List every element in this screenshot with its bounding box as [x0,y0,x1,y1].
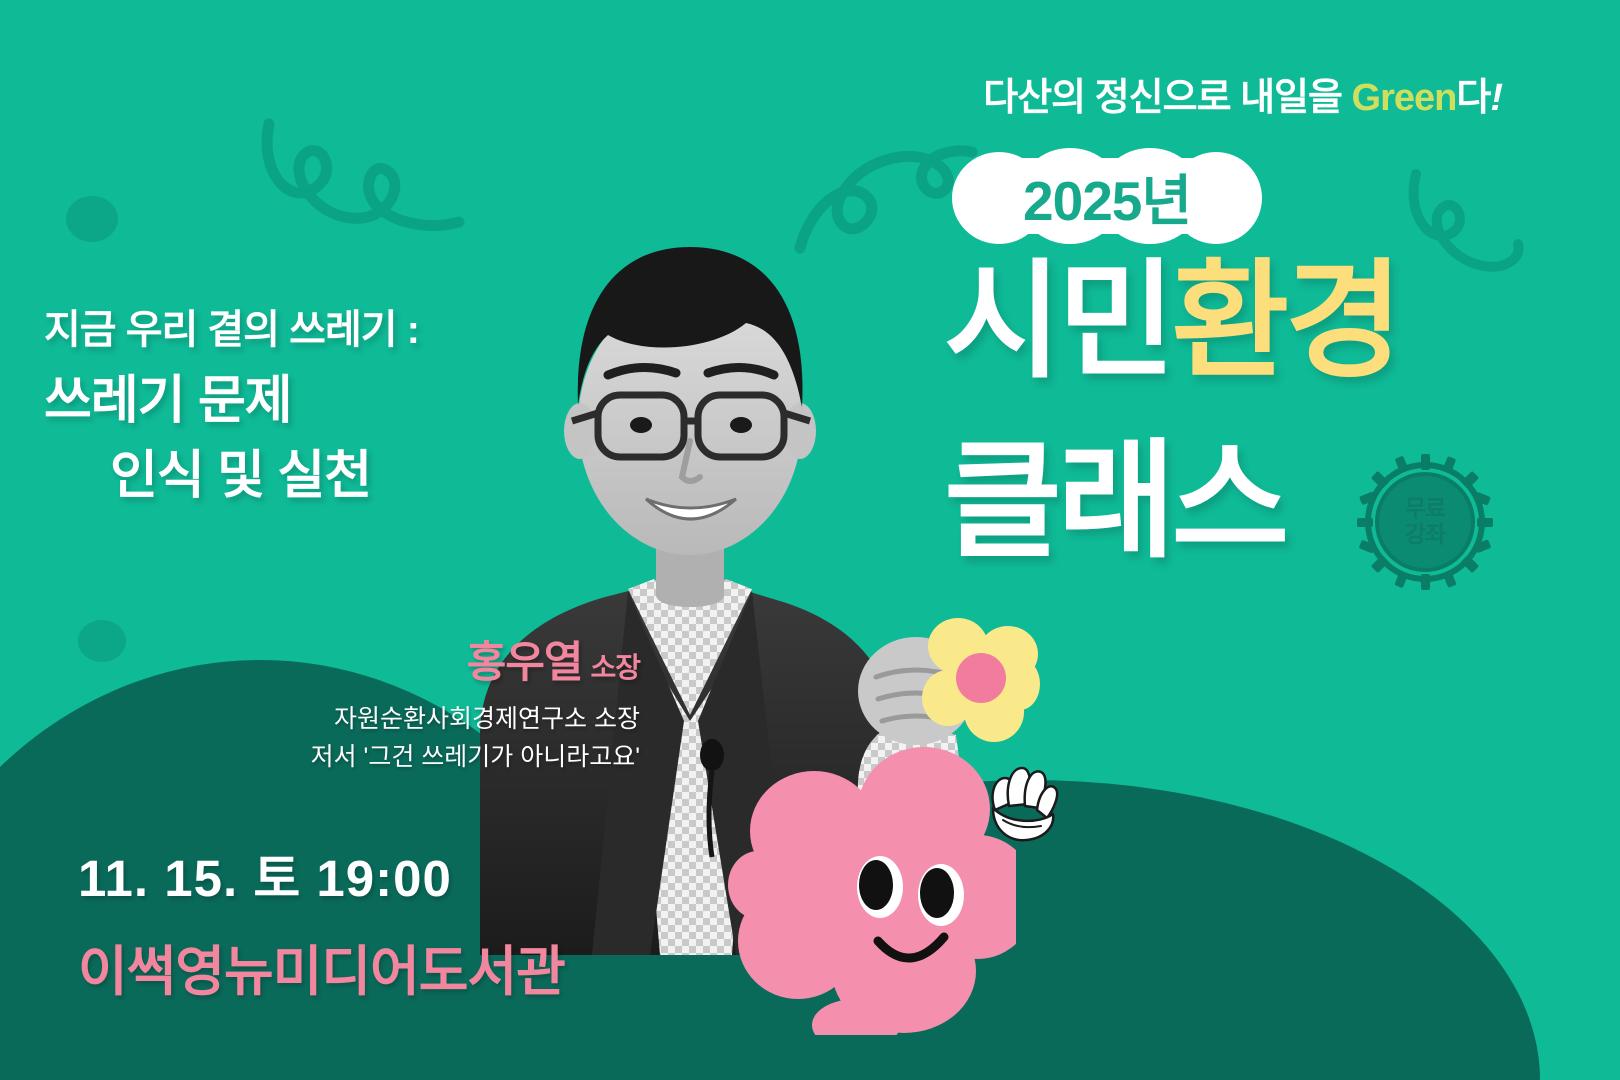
tagline-suffix: 다 [1456,77,1490,119]
campaign-tagline: 다산의 정신으로 내일을 Green다! [983,66,1502,121]
headline-line-3: 인식 및 실천 [44,443,604,510]
squiggle-decor-right-edge [1400,160,1530,280]
speaker-name: 홍우열 [467,639,583,687]
year-badge-text: 2025년 [952,148,1262,244]
title-word-citizen: 시민 [944,250,1172,393]
pink-flower-character [728,735,1016,1035]
seal-text-line-1: 무료 [1405,496,1445,522]
tagline-exclamation: ! [1490,77,1502,119]
year-badge: 2025년 [952,148,1262,244]
tagline-prefix: 다산의 정신으로 내일을 [983,77,1351,119]
headline-line-2: 쓰레기 문제 [44,368,604,435]
tagline-green-word: Green [1352,77,1457,119]
event-date: 11. 15. 토 19:00 [78,837,565,911]
speaker-role: 소장 [590,652,640,683]
speaker-name-row: 홍우열소장 [180,628,640,690]
seal-text-line-2: 강좌 [1405,522,1445,548]
lecture-headline: 지금 우리 곁의 쓰레기 : 쓰레기 문제 인식 및 실천 [44,305,604,509]
headline-line-1: 지금 우리 곁의 쓰레기 : [44,305,604,356]
event-info-block: 11. 15. 토 19:00 이썩영뉴미디어도서관 [78,837,565,1006]
event-venue: 이썩영뉴미디어도서관 [78,927,565,1006]
yellow-flower-icon [922,612,1040,750]
speaker-info-block: 홍우열소장 자원순환사회경제연구소 소장 저서 '그건 쓰레기가 아니라고요' [180,628,640,775]
dot-decor-left-upper [66,196,118,242]
dot-decor-left-lower [78,620,126,662]
speaker-affiliation: 자원순환사회경제연구소 소장 [180,702,640,738]
speaker-book: 저서 '그건 쓰레기가 아니라고요' [180,740,640,776]
seal-badge-text: 무료 강좌 [1355,452,1495,592]
poster-title-line-2: 클래스 [944,438,1285,566]
title-word-environment: 환경 [1172,250,1400,393]
poster-title-line-1: 시민환경 [944,258,1399,386]
free-lecture-seal-badge: 무료 강좌 [1355,452,1495,592]
poster-canvas: 지금 우리 곁의 쓰레기 : 쓰레기 문제 인식 및 실천 홍우열소장 자원순환… [0,0,1620,1080]
